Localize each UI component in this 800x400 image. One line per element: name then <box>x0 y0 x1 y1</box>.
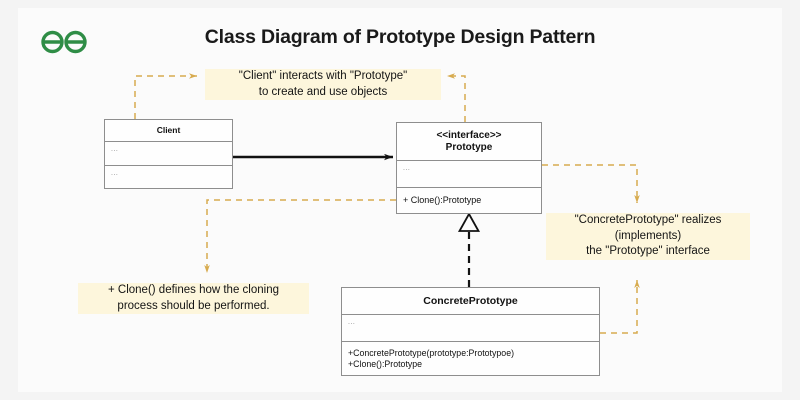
class-name-concrete-prototype: ConcretePrototype <box>423 295 518 307</box>
class-box-concrete-prototype[interactable]: ConcretePrototype ... +ConcretePrototype… <box>341 287 600 376</box>
class-header-concrete-prototype: ConcretePrototype <box>342 288 599 315</box>
class-name-prototype: Prototype <box>446 142 493 154</box>
class-header-client: Client <box>105 120 232 142</box>
class-attributes-prototype: ... <box>397 161 541 188</box>
operation-constructor: +ConcretePrototype(prototype:Prototypoe) <box>348 348 514 359</box>
operation-clone: +Clone():Prototype <box>348 359 422 370</box>
note-clone-defines: + Clone() defines how the cloning proces… <box>78 283 309 314</box>
geeksforgeeks-logo <box>38 25 90 59</box>
class-attributes-concrete-prototype: ... <box>342 315 599 342</box>
class-box-prototype[interactable]: <<interface>> Prototype ... + Clone():Pr… <box>396 122 542 214</box>
class-operations-concrete-prototype: +ConcretePrototype(prototype:Prototypoe)… <box>342 342 599 376</box>
diagram-canvas: Class Diagram of Prototype Design Patter… <box>0 0 800 400</box>
page-title: Class Diagram of Prototype Design Patter… <box>140 26 660 49</box>
class-name-client: Client <box>157 126 181 136</box>
class-operations-client: ... <box>105 166 232 189</box>
class-box-client[interactable]: Client ... ... <box>104 119 233 189</box>
operation-clone-prototype: + Clone():Prototype <box>403 195 481 206</box>
note-concrete-realizes: "ConcretePrototype" realizes (implements… <box>546 213 750 260</box>
class-attributes-client: ... <box>105 142 232 166</box>
class-header-prototype: <<interface>> Prototype <box>397 123 541 161</box>
class-operations-prototype: + Clone():Prototype <box>397 188 541 214</box>
note-client-interacts: "Client" interacts with "Prototype" to c… <box>205 69 441 100</box>
class-stereotype-prototype: <<interface>> <box>436 130 501 142</box>
